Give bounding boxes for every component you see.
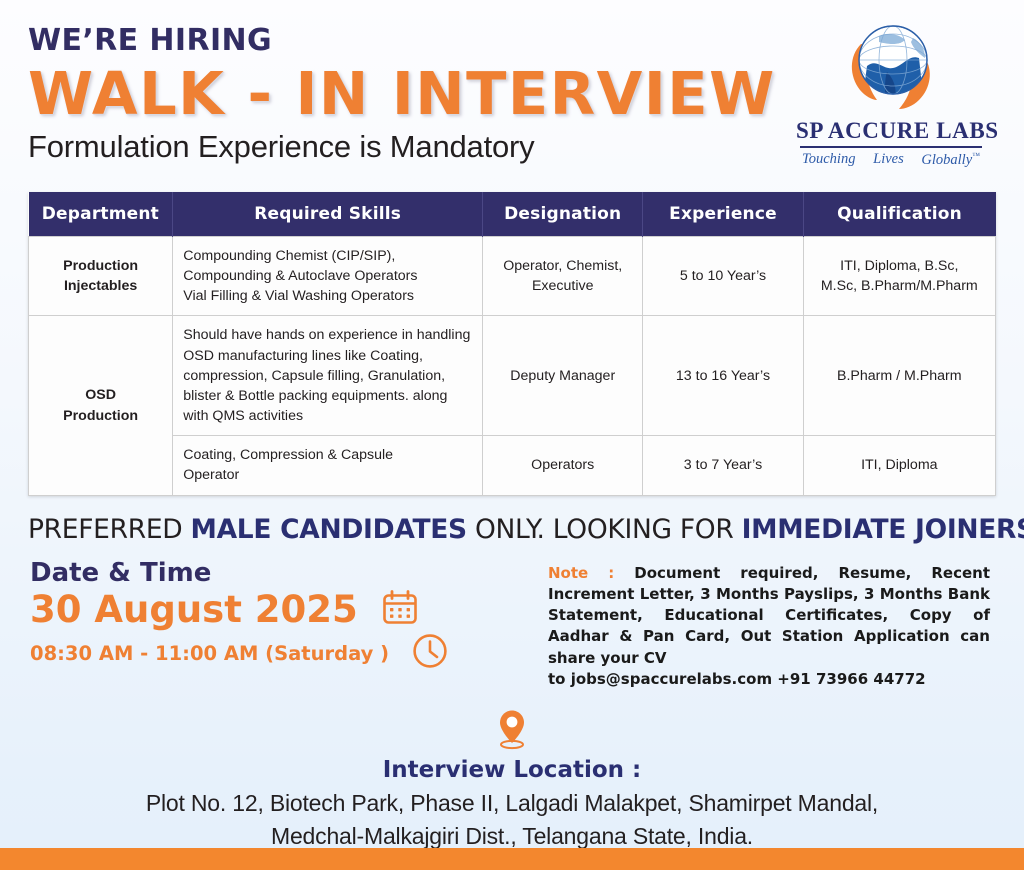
logo-tagline: Touching Lives Globally™ — [796, 151, 986, 169]
note-block: Note : Document required, Resume, Recent… — [548, 559, 996, 691]
time-row: 08:30 AM - 11:00 AM (Saturday ) — [30, 632, 548, 675]
logo-divider — [800, 146, 982, 148]
bottom-accent-bar — [0, 848, 1024, 870]
column-header-department: Department — [29, 192, 173, 237]
calendar-icon — [380, 587, 420, 632]
table-header-row: Department Required Skills Designation E… — [29, 192, 996, 237]
cell-experience: 3 to 7 Year’s — [643, 436, 803, 495]
cell-qualification: ITI, Diploma — [803, 436, 995, 495]
preferred-text-2: ONLY. LOOKING FOR — [467, 514, 742, 545]
table-row: OSD Production Should have hands on expe… — [29, 316, 996, 436]
location-block: Interview Location : Plot No. 12, Biotec… — [28, 708, 996, 852]
cell-qualification: B.Pharm / M.Pharm — [803, 316, 995, 436]
logo-company-name: SP ACCURE LABS — [796, 118, 986, 144]
table-row: Coating, Compression & Capsule Operator … — [29, 436, 996, 495]
interview-time: 08:30 AM - 11:00 AM (Saturday ) — [30, 641, 389, 666]
cell-designation: Operators — [483, 436, 643, 495]
date-time-block: Date & Time 30 August 2025 — [28, 559, 548, 676]
note-contact: to jobs@spaccurelabs.com +91 73966 44772 — [548, 669, 990, 690]
column-header-qualification: Qualification — [803, 192, 995, 237]
note-label: Note : — [548, 564, 614, 582]
preferred-text-1: PREFERRED — [28, 514, 191, 545]
cell-department: OSD Production — [29, 316, 173, 495]
cell-designation: Deputy Manager — [483, 316, 643, 436]
cell-designation: Operator, Chemist, Executive — [483, 237, 643, 316]
column-header-required-skills: Required Skills — [173, 192, 483, 237]
note-text: Note : Document required, Resume, Recent… — [548, 563, 990, 691]
cell-experience: 5 to 10 Year’s — [643, 237, 803, 316]
preferred-highlight-male: MALE CANDIDATES — [191, 514, 467, 545]
preferred-highlight-immediate: IMMEDIATE JOINERS. — [742, 514, 1024, 545]
jobs-table: Department Required Skills Designation E… — [28, 192, 996, 496]
location-title: Interview Location : — [28, 757, 996, 783]
cell-required-skills: Compounding Chemist (CIP/SIP), Compoundi… — [173, 237, 483, 316]
cell-experience: 13 to 16 Year’s — [643, 316, 803, 436]
table-row: Production Injectables Compounding Chemi… — [29, 237, 996, 316]
location-address-line-1: Plot No. 12, Biotech Park, Phase II, Lal… — [28, 787, 996, 820]
company-logo: SP ACCURE LABS Touching Lives Globally™ — [796, 18, 986, 169]
cell-qualification: ITI, Diploma, B.Sc, M.Sc, B.Pharm/M.Phar… — [803, 237, 995, 316]
interview-date: 30 August 2025 — [30, 588, 358, 632]
column-header-designation: Designation — [483, 192, 643, 237]
poster-header: WE’RE HIRING WALK - IN INTERVIEW Formula… — [28, 0, 996, 190]
details-section: Date & Time 30 August 2025 — [28, 559, 996, 691]
preferred-candidates-line: PREFERRED MALE CANDIDATES ONLY. LOOKING … — [28, 514, 996, 545]
globe-with-hands-icon — [827, 18, 955, 116]
clock-icon — [411, 632, 449, 675]
logo-tagline-word-2: Lives — [873, 151, 904, 169]
note-body: Document required, Resume, Recent Increm… — [548, 564, 990, 667]
hiring-poster: WE’RE HIRING WALK - IN INTERVIEW Formula… — [0, 0, 1024, 870]
column-header-experience: Experience — [643, 192, 803, 237]
cell-department: Production Injectables — [29, 237, 173, 316]
logo-tagline-word-1: Touching — [802, 151, 855, 169]
logo-tagline-word-3: Globally™ — [921, 151, 980, 169]
cell-required-skills: Coating, Compression & Capsule Operator — [173, 436, 483, 495]
date-time-label: Date & Time — [30, 559, 548, 588]
jobs-table-wrapper: Department Required Skills Designation E… — [28, 192, 996, 496]
map-pin-icon — [28, 708, 996, 755]
date-row: 30 August 2025 — [30, 587, 548, 632]
cell-required-skills: Should have hands on experience in handl… — [173, 316, 483, 436]
